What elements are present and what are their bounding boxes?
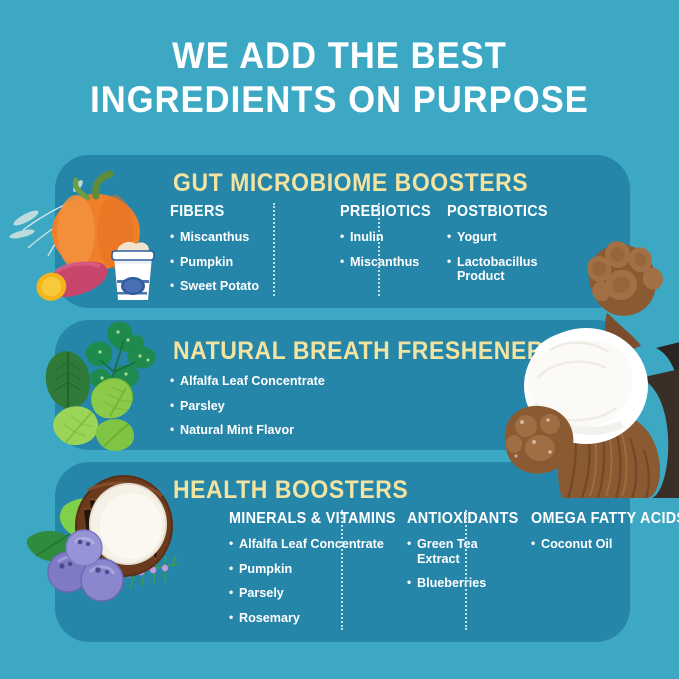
column-title: POSTBIOTICS [447,203,559,221]
list-item: •Miscanthus [170,230,330,245]
column-title: ANTIOXIDANTS [407,510,505,528]
list-item: •Parsley [170,399,490,414]
ingredient-list: •Green Tea Extract •Blueberries [407,537,512,591]
list-item-label: Parsely [239,586,284,600]
bullet-icon: • [229,610,233,624]
list-item: •Yogurt [447,230,567,245]
ingredient-list: •Miscanthus •Pumpkin •Sweet Potato [170,230,330,294]
list-item: •Rosemary [229,611,394,626]
ingredient-list: •Coconut Oil [531,537,679,552]
panel-heading: NATURAL BREATH FRESHENERS [173,337,560,366]
column-divider [341,510,343,630]
panel-natural-breath-fresheners: NATURAL BREATH FRESHENERS •Alfalfa Leaf … [55,320,630,450]
column-divider [465,510,467,630]
ingredient-list: •Inulin •Miscanthus [340,230,440,269]
list-item: •Alfalfa Leaf Concentrate [229,537,394,552]
list-item: •Inulin [340,230,440,245]
list-item-label: Alfalfa Leaf Concentrate [180,374,325,388]
list-item-label: Blueberries [417,576,486,590]
bullet-icon: • [170,373,174,387]
ingredient-list: •Alfalfa Leaf Concentrate •Parsley •Natu… [170,374,490,438]
ingredient-list: •Alfalfa Leaf Concentrate •Pumpkin •Pars… [229,537,394,625]
list-item-label: Pumpkin [180,255,233,269]
list-item-label: Miscanthus [350,255,419,269]
column-breath-fresheners: •Alfalfa Leaf Concentrate •Parsley •Natu… [170,374,490,448]
list-item-label: Green Tea Extract [417,537,478,566]
list-item: •Sweet Potato [170,279,330,294]
bullet-icon: • [170,254,174,268]
list-item: •Miscanthus [340,255,440,270]
list-item-label: Lactobacillus Product [457,255,537,284]
column-antioxidants: ANTIOXIDANTS •Green Tea Extract •Blueber… [407,510,512,601]
title-line-1: WE ADD THE BEST [24,38,655,74]
column-omega-fatty-acids: OMEGA FATTY ACIDS •Coconut Oil [531,510,679,562]
bullet-icon: • [170,398,174,412]
column-title: OMEGA FATTY ACIDS [531,510,671,528]
column-minerals-vitamins: MINERALS & VITAMINS •Alfalfa Leaf Concen… [229,510,394,635]
bullet-icon: • [407,536,411,550]
bullet-icon: • [340,229,344,243]
list-item-label: Yogurt [457,230,497,244]
panel-health-boosters: HEALTH BOOSTERS MINERALS & VITAMINS •Alf… [55,462,630,642]
bullet-icon: • [531,536,535,550]
column-divider [273,203,275,296]
column-title: MINERALS & VITAMINS [229,510,382,528]
column-title: PREBIOTICS [340,203,433,221]
list-item: •Parsely [229,586,394,601]
bullet-icon: • [170,229,174,243]
ingredient-list: •Yogurt •Lactobacillus Product [447,230,567,284]
column-prebiotics: PREBIOTICS •Inulin •Miscanthus [340,203,440,279]
panel-heading: GUT MICROBIOME BOOSTERS [173,169,528,198]
bullet-icon: • [447,254,451,268]
infographic-canvas: WE ADD THE BEST INGREDIENTS ON PURPOSE G… [0,0,679,679]
bullet-icon: • [447,229,451,243]
list-item-label: Coconut Oil [541,537,612,551]
list-item-label: Rosemary [239,611,300,625]
bullet-icon: • [170,278,174,292]
bullet-icon: • [170,422,174,436]
list-item-label: Pumpkin [239,562,292,576]
bullet-icon: • [407,575,411,589]
list-item: •Pumpkin [229,562,394,577]
list-item: •Alfalfa Leaf Concentrate [170,374,490,389]
column-fibers: FIBERS •Miscanthus •Pumpkin •Sweet Potat… [170,203,330,304]
title-line-2: INGREDIENTS ON PURPOSE [24,82,655,118]
bullet-icon: • [229,561,233,575]
list-item: •Blueberries [407,576,512,591]
bullet-icon: • [340,254,344,268]
list-item: •Green Tea Extract [407,537,512,566]
panel-gut-microbiome-boosters: GUT MICROBIOME BOOSTERS FIBERS •Miscanth… [55,155,630,308]
column-title: FIBERS [170,203,319,221]
list-item-label: Sweet Potato [180,279,259,293]
list-item-label: Miscanthus [180,230,249,244]
list-item: •Coconut Oil [531,537,679,552]
column-divider [378,203,380,296]
list-item: •Natural Mint Flavor [170,423,490,438]
list-item-label: Alfalfa Leaf Concentrate [239,537,384,551]
panel-heading: HEALTH BOOSTERS [173,476,408,505]
list-item: •Pumpkin [170,255,330,270]
page-title: WE ADD THE BEST INGREDIENTS ON PURPOSE [0,38,679,117]
bullet-icon: • [229,585,233,599]
list-item: •Lactobacillus Product [447,255,567,284]
list-item-label: Parsley [180,399,225,413]
column-postbiotics: POSTBIOTICS •Yogurt •Lactobacillus Produ… [447,203,567,294]
bullet-icon: • [229,536,233,550]
list-item-label: Natural Mint Flavor [180,423,294,437]
